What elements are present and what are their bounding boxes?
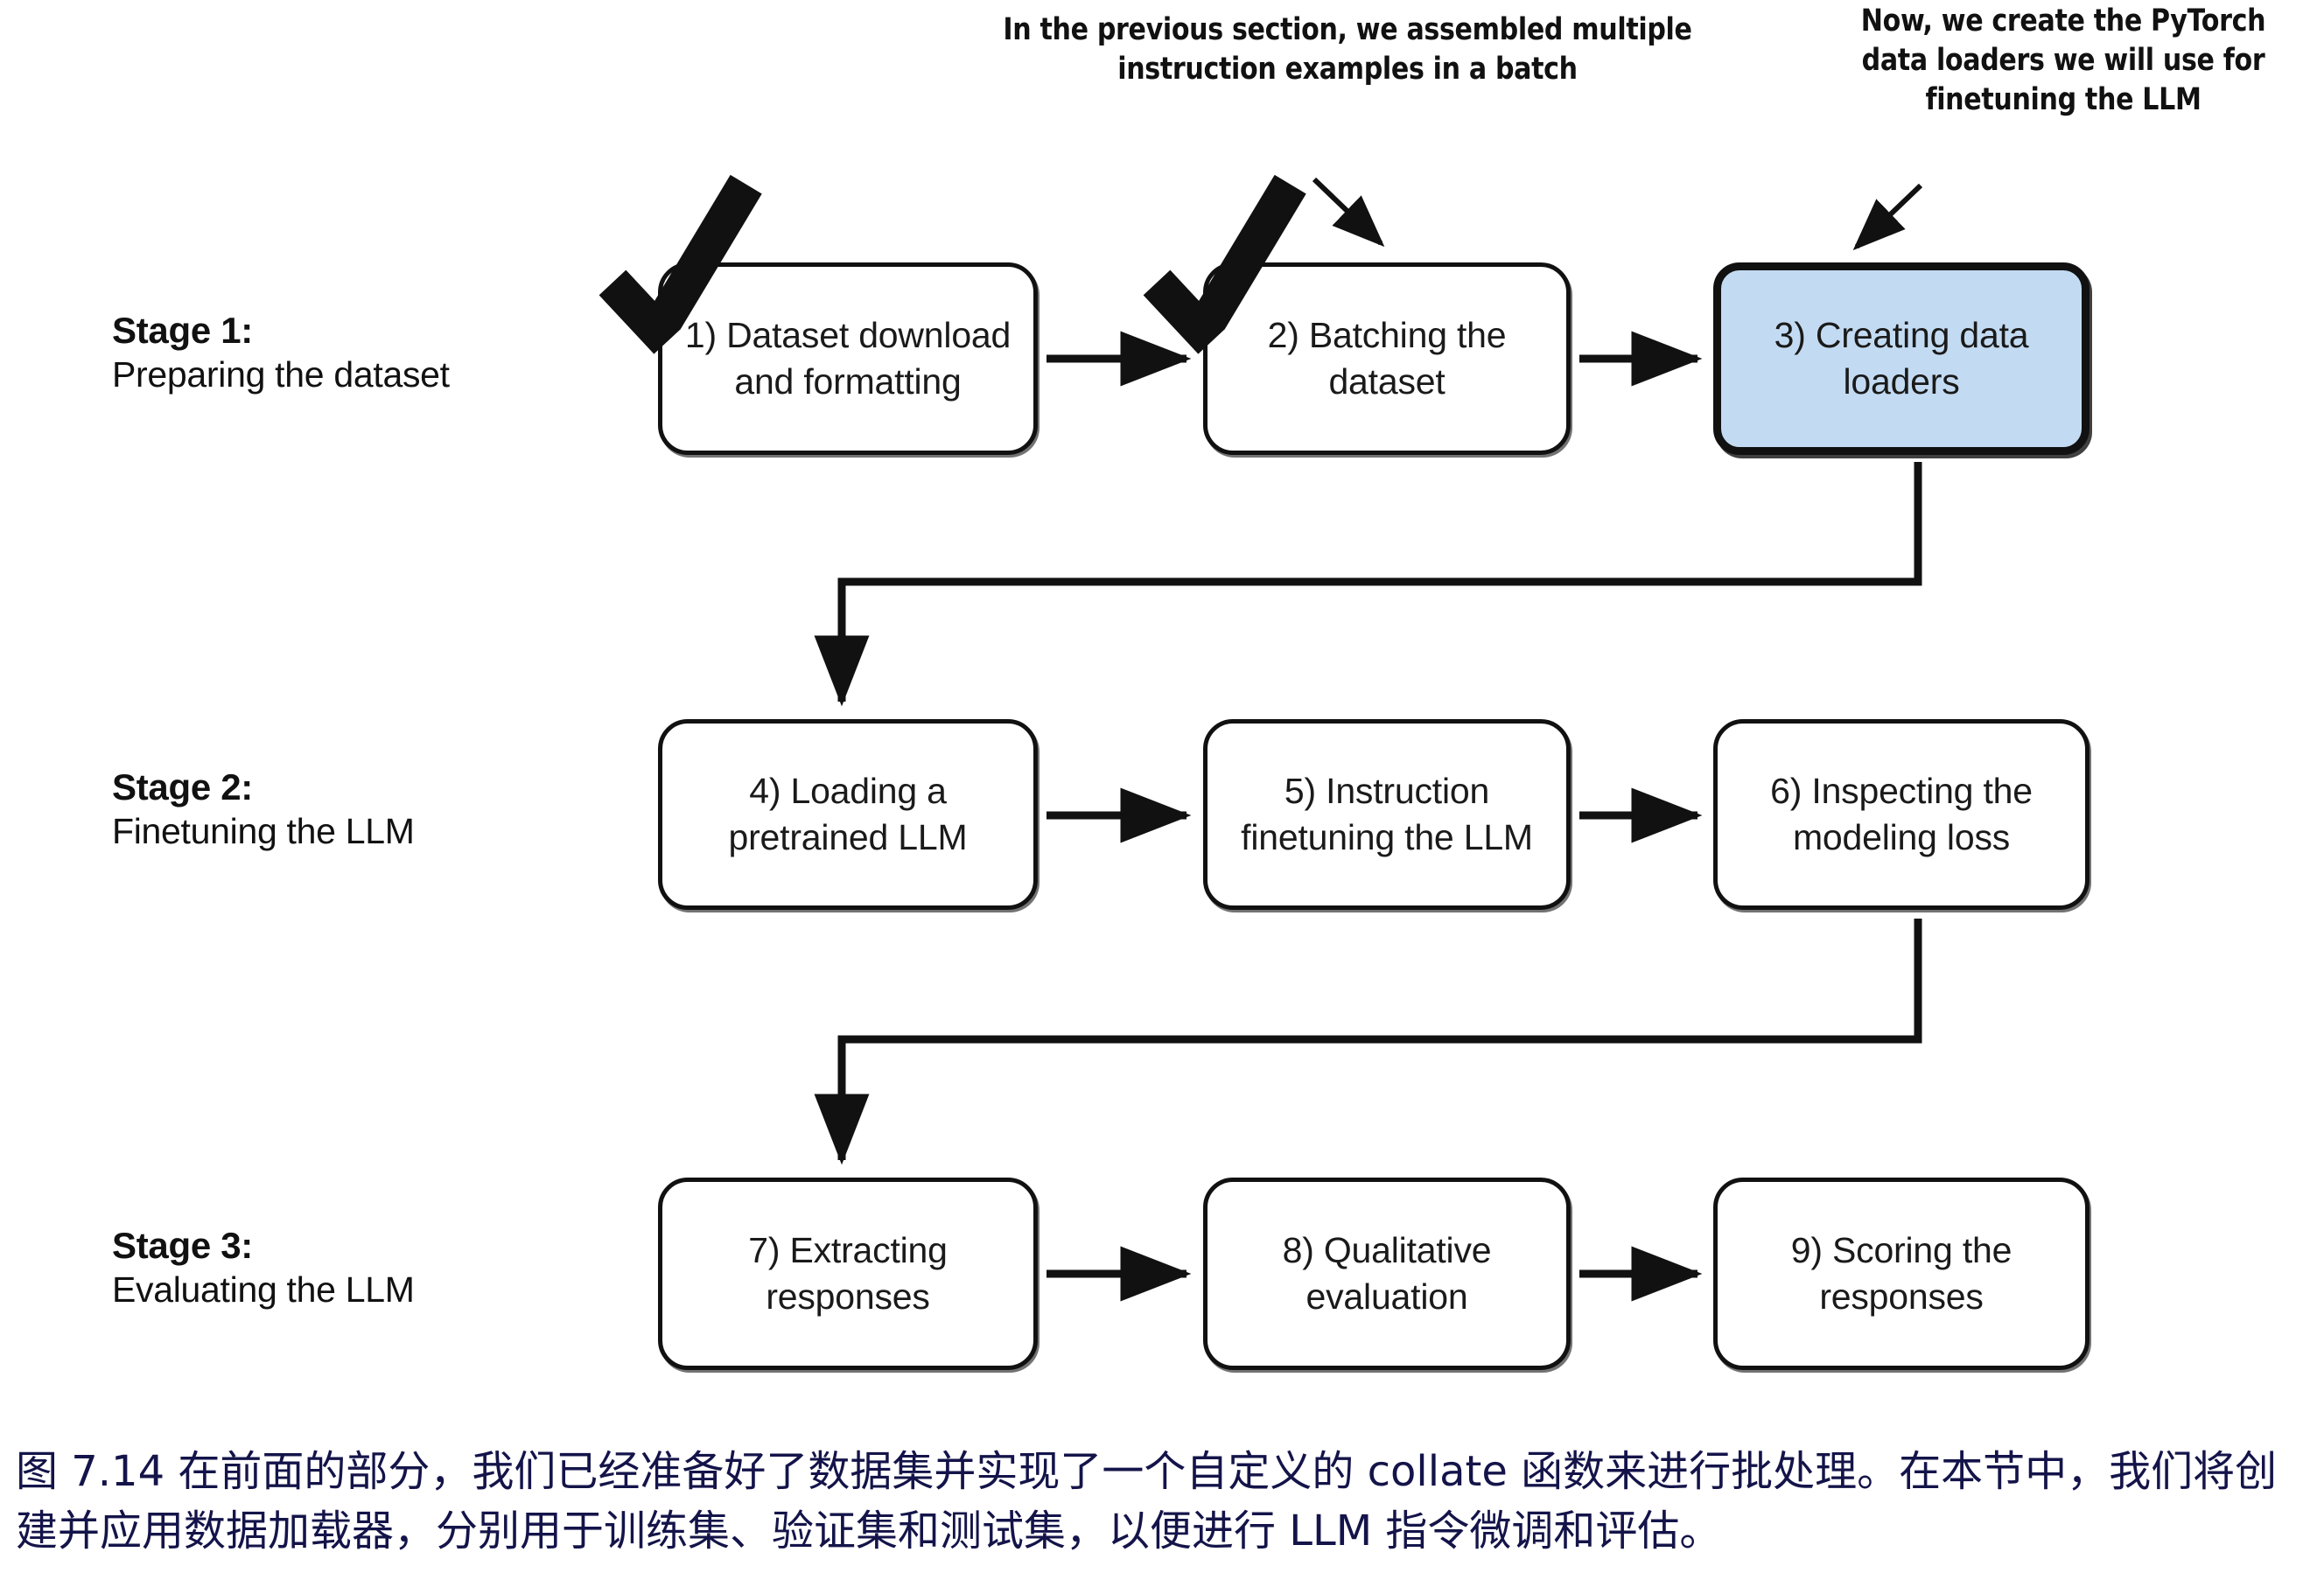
stage-3-title: Stage 3: bbox=[112, 1223, 654, 1268]
stage-label-3: Stage 3: Evaluating the LLM bbox=[112, 1223, 654, 1311]
figure-caption: 图 7.14 在前面的部分，我们已经准备好了数据集并实现了一个自定义的 coll… bbox=[16, 1442, 2308, 1561]
stage-2-title: Stage 2: bbox=[112, 765, 654, 809]
figure-canvas: In the previous section, we assembled mu… bbox=[0, 0, 2324, 1587]
arrow-box3-to-box4 bbox=[842, 462, 1918, 702]
arrow-box6-to-box7 bbox=[842, 919, 1918, 1160]
stage-3-subtitle: Evaluating the LLM bbox=[112, 1268, 654, 1311]
stage-1-title: Stage 1: bbox=[112, 308, 654, 353]
process-box-4[interactable]: 4) Loading a pretrained LLM bbox=[658, 719, 1038, 910]
annotation-arrow-dataloaders bbox=[1857, 185, 1921, 247]
stage-2-subtitle: Finetuning the LLM bbox=[112, 809, 654, 853]
process-box-8[interactable]: 8) Qualitative evaluation bbox=[1203, 1178, 1571, 1370]
annotation-arrow-batching bbox=[1314, 179, 1381, 243]
process-box-1[interactable]: 1) Dataset download and formatting bbox=[658, 262, 1038, 455]
stage-1-subtitle: Preparing the dataset bbox=[112, 353, 654, 396]
process-box-5[interactable]: 5) Instruction finetuning the LLM bbox=[1203, 719, 1571, 910]
process-box-6[interactable]: 6) Inspecting the modeling loss bbox=[1713, 719, 2089, 910]
process-box-2[interactable]: 2) Batching the dataset bbox=[1203, 262, 1571, 455]
annotation-callout-batching: In the previous section, we assembled mu… bbox=[997, 10, 1697, 89]
process-box-9[interactable]: 9) Scoring the responses bbox=[1713, 1178, 2089, 1370]
process-box-7[interactable]: 7) Extracting responses bbox=[658, 1178, 1038, 1370]
annotation-callout-dataloaders: Now, we create the PyTorch data loaders … bbox=[1851, 2, 2277, 119]
process-box-3[interactable]: 3) Creating data loaders bbox=[1713, 262, 2089, 455]
stage-label-1: Stage 1: Preparing the dataset bbox=[112, 308, 654, 396]
stage-label-2: Stage 2: Finetuning the LLM bbox=[112, 765, 654, 853]
